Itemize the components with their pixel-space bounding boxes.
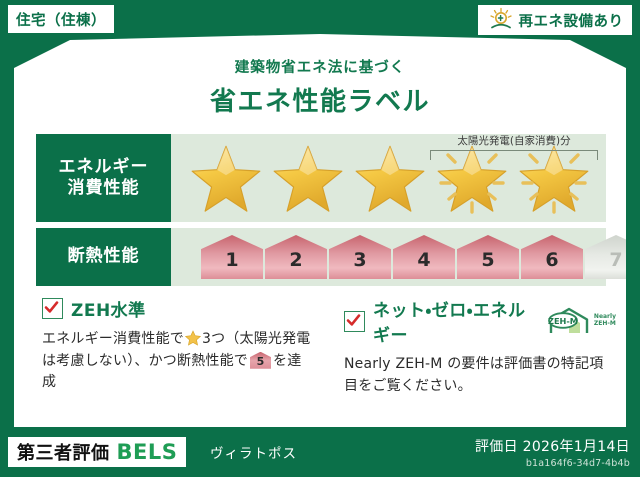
building-name: ヴィラトポス bbox=[210, 442, 297, 462]
zeh-note-header: ZEH水準 bbox=[42, 296, 314, 321]
star-icon bbox=[187, 139, 265, 217]
insulation-level-value: 7 bbox=[609, 251, 622, 279]
insulation-level-value: 1 bbox=[225, 251, 238, 279]
solar-annotation-label: 太陽光発電(自家消費)分 bbox=[430, 136, 598, 148]
zehm-sub-line2: ZEH-M bbox=[594, 320, 616, 327]
zeh-body-part1: エネルギー消費性能で bbox=[42, 331, 184, 347]
star-icon bbox=[351, 139, 429, 217]
evaluation-id: b1a164f6-34d7-4b4b bbox=[475, 458, 630, 469]
check-icon bbox=[42, 298, 63, 319]
nze-note-header: ネット・ゼロ・エネルギー ZEH-M Nearly ZEH-M bbox=[344, 296, 616, 346]
nze-note-title: ネット・ゼロ・エネルギー bbox=[373, 296, 535, 346]
insulation-level-1: 1 bbox=[201, 235, 263, 279]
insulation-level-value: 6 bbox=[545, 251, 558, 279]
page-title: 省エネ性能ラベル bbox=[14, 81, 626, 118]
label-panel: 建築物省エネ法に基づく 省エネ性能ラベル エネルギー 消費性能 太陽光発電(自家… bbox=[14, 34, 626, 427]
insulation-level-value: 5 bbox=[481, 251, 494, 279]
energy-label-line2: 消費性能 bbox=[68, 178, 140, 199]
zeh-standard-note: ZEH水準 エネルギー消費性能で3つ（太陽光発電は考慮しない）、かつ断熱性能で5… bbox=[42, 296, 314, 394]
net-zero-energy-note: ネット・ゼロ・エネルギー ZEH-M Nearly ZEH-M Nearly Z… bbox=[344, 296, 616, 397]
star-icon bbox=[185, 330, 201, 346]
check-icon bbox=[344, 311, 365, 332]
nze-note-body: Nearly ZEH-M の要件は評価書の特記項目をご覧ください。 bbox=[344, 354, 616, 397]
energy-performance-label: 住宅（住棟） 再エネ設備あり 建築物省エネ法に基づく 省エネ性能ラベ bbox=[0, 0, 640, 477]
insulation-level-value: 4 bbox=[417, 251, 430, 279]
insulation-level-5: 5 bbox=[457, 235, 519, 279]
insulation-level-4: 4 bbox=[393, 235, 455, 279]
zehm-badge-sub: Nearly ZEH-M bbox=[594, 314, 616, 328]
svg-text:ZEH-M: ZEH-M bbox=[548, 316, 578, 326]
bels-badge: 第三者評価 BELS bbox=[8, 437, 186, 467]
title-block: 建築物省エネ法に基づく 省エネ性能ラベル bbox=[14, 56, 626, 118]
bels-jp-label: 第三者評価 bbox=[17, 439, 110, 465]
energy-rating-content: 太陽光発電(自家消費)分 bbox=[171, 134, 606, 222]
insulation-label-block: 断熱性能 bbox=[36, 228, 171, 286]
sun-icon bbox=[487, 7, 515, 33]
zeh-body-part2: は考慮しない）、かつ断熱性能で bbox=[42, 353, 248, 369]
insulation-level-2: 2 bbox=[265, 235, 327, 279]
zehm-logo: ZEH-M Nearly ZEH-M bbox=[547, 307, 616, 335]
insulation-level-value: 2 bbox=[289, 251, 302, 279]
insulation-level-6: 6 bbox=[521, 235, 583, 279]
insulation-level-scale: 1234567 bbox=[201, 228, 640, 286]
label-subtitle: 建築物省エネ法に基づく bbox=[14, 56, 626, 77]
zeh-note-title: ZEH水準 bbox=[71, 296, 146, 321]
insulation-level-7: 7 bbox=[585, 235, 640, 279]
solar-generation-annotation: 太陽光発電(自家消費)分 bbox=[430, 136, 598, 160]
house-type-tag: 住宅（住棟） bbox=[8, 5, 114, 33]
energy-label-line1: エネルギー bbox=[59, 157, 149, 178]
house-icon: 5 bbox=[250, 352, 271, 369]
evaluation-date: 評価日 2026年1月14日 bbox=[475, 436, 630, 456]
bels-en-label: BELS bbox=[117, 440, 178, 464]
renewable-tag-label: 再エネ設備あり bbox=[519, 10, 624, 31]
inline-house-value: 5 bbox=[250, 352, 271, 369]
insulation-label: 断熱性能 bbox=[68, 246, 140, 267]
insulation-level-3: 3 bbox=[329, 235, 391, 279]
zeh-body-star-count: 3つ（太陽光発電 bbox=[202, 331, 311, 347]
insulation-rating-content: 1234567 bbox=[171, 228, 606, 286]
evaluation-info: 評価日 2026年1月14日 b1a164f6-34d7-4b4b bbox=[475, 436, 630, 469]
renewable-equipment-tag: 再エネ設備あり bbox=[478, 5, 632, 35]
insulation-level-value: 3 bbox=[353, 251, 366, 279]
house-type-tag-label: 住宅（住棟） bbox=[16, 9, 106, 30]
solar-bracket-line bbox=[430, 150, 598, 160]
energy-performance-label-block: エネルギー 消費性能 bbox=[36, 134, 171, 222]
insulation-performance-row: 断熱性能 1234567 bbox=[36, 228, 606, 286]
zeh-note-body: エネルギー消費性能で3つ（太陽光発電は考慮しない）、かつ断熱性能で5を達成 bbox=[42, 329, 314, 394]
label-footer: 第三者評価 BELS ヴィラトポス 評価日 2026年1月14日 b1a164f… bbox=[0, 427, 640, 477]
star-icon bbox=[269, 139, 347, 217]
energy-performance-row: エネルギー 消費性能 太陽光発電(自家消費)分 bbox=[36, 134, 606, 222]
